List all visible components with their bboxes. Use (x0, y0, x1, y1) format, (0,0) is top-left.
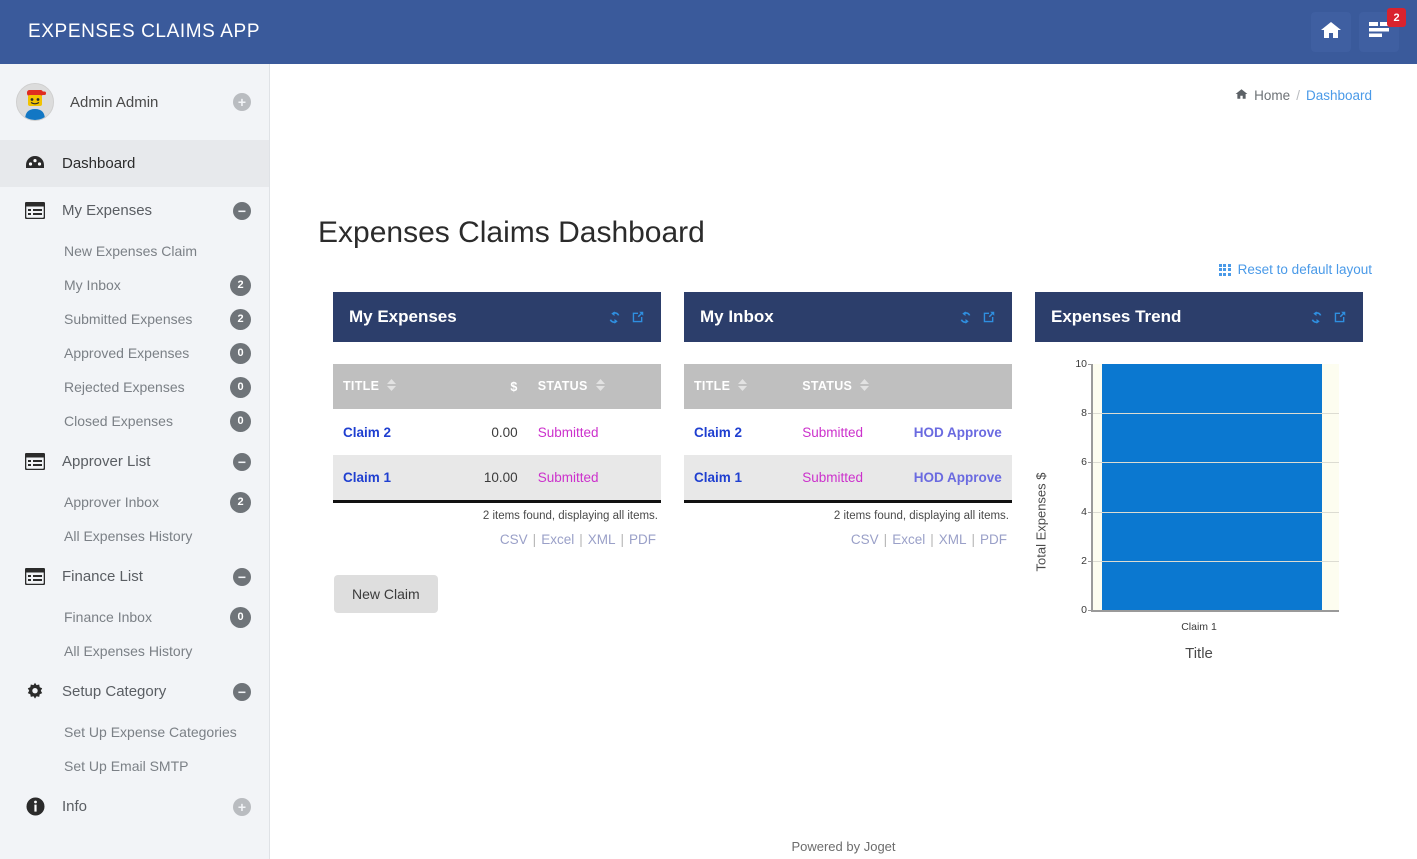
main-content: Home / Dashboard Expenses Claims Dashboa… (270, 64, 1417, 859)
portlet-expenses-trend: Expenses Trend Total Expenses $ 0246810 (1035, 292, 1363, 682)
sidebar-collapse-toggle[interactable]: + (233, 798, 251, 816)
expenses-trend-chart: Total Expenses $ 0246810 Claim 1 Title (1035, 342, 1363, 682)
sidebar-subitem-set-up-expense-categories[interactable]: Set Up Expense Categories (0, 715, 269, 749)
sidebar-item-my-expenses[interactable]: My Expenses− (0, 187, 269, 234)
portlet-row: My Expenses TITLE $ STATUS (333, 292, 1363, 682)
export-xml[interactable]: XML (939, 532, 967, 547)
sidebar-subitem-label: New Expenses Claim (64, 243, 251, 259)
sidebar-collapse-toggle[interactable]: − (233, 683, 251, 701)
sidebar-subitem-approved-expenses[interactable]: Approved Expenses0 (0, 336, 269, 370)
sidebar-item-label: Dashboard (62, 155, 251, 172)
sidebar-badge: 0 (230, 607, 251, 628)
sidebar-badge: 2 (230, 309, 251, 330)
sidebar-subitem-rejected-expenses[interactable]: Rejected Expenses0 (0, 370, 269, 404)
sidebar: Admin Admin + DashboardMy Expenses−New E… (0, 64, 270, 859)
gear-icon (24, 682, 46, 702)
refresh-icon[interactable] (958, 310, 973, 325)
portlet-body: TITLE $ STATUS Claim 2 0.00 Submitted Cl… (333, 342, 661, 547)
export-pdf[interactable]: PDF (980, 532, 1007, 547)
claim-link[interactable]: Claim 1 (694, 470, 742, 485)
info-icon (24, 797, 46, 816)
export-excel[interactable]: Excel (541, 532, 574, 547)
sidebar-subitem-label: Approved Expenses (64, 345, 230, 361)
chart-y-tick: 4 (1081, 506, 1087, 518)
sort-icon (860, 379, 869, 394)
sidebar-collapse-toggle[interactable]: − (233, 568, 251, 586)
footer-text: Powered by Joget (270, 839, 1417, 854)
sidebar-subitem-all-expenses-history[interactable]: All Expenses History (0, 634, 269, 668)
status-badge: Submitted (802, 425, 863, 440)
page-title: Expenses Claims Dashboard (318, 216, 705, 250)
claim-link[interactable]: Claim 1 (343, 470, 391, 485)
export-csv[interactable]: CSV (500, 532, 528, 547)
col-status[interactable]: STATUS (792, 364, 904, 409)
table-row[interactable]: Claim 1 10.00 Submitted (333, 455, 661, 501)
app-title: EXPENSES CLAIMS APP (28, 21, 260, 43)
reset-layout-link[interactable]: Reset to default layout (1219, 262, 1372, 277)
reset-layout-label: Reset to default layout (1238, 262, 1372, 277)
export-csv[interactable]: CSV (851, 532, 879, 547)
sidebar-item-label: Approver List (62, 453, 233, 470)
sidebar-item-label: Setup Category (62, 683, 233, 700)
portlet-header: My Expenses (333, 292, 661, 342)
external-link-icon[interactable] (631, 310, 645, 324)
chart-y-tickmark (1088, 462, 1093, 463)
sidebar-subitem-label: Set Up Expense Categories (64, 724, 251, 740)
col-title[interactable]: TITLE (684, 364, 792, 409)
action-link[interactable]: HOD Approve (914, 470, 1002, 485)
portlet-body: Total Expenses $ 0246810 Claim 1 Title (1035, 342, 1363, 682)
sidebar-subitem-label: Finance Inbox (64, 609, 230, 625)
chart-bar (1102, 364, 1322, 610)
user-profile-row[interactable]: Admin Admin + (0, 64, 269, 140)
export-links: CSV|Excel|XML|PDF (684, 522, 1012, 547)
home-icon (1320, 20, 1342, 45)
sidebar-subitem-label: Submitted Expenses (64, 311, 230, 327)
sort-icon (738, 379, 747, 394)
sort-icon (596, 379, 605, 394)
sidebar-subitem-set-up-email-smtp[interactable]: Set Up Email SMTP (0, 749, 269, 783)
my-inbox-table: TITLE STATUS Claim 2 Submitted HOD Appro… (684, 364, 1012, 503)
portlet-title: My Expenses (349, 307, 607, 327)
chart-y-tick: 0 (1081, 604, 1087, 616)
user-expand-toggle[interactable]: + (233, 93, 251, 111)
inbox-badge: 2 (1387, 8, 1406, 27)
chart-y-tick: 6 (1081, 456, 1087, 468)
breadcrumb-separator: / (1296, 88, 1300, 103)
col-status[interactable]: STATUS (528, 364, 661, 409)
portlet-my-inbox: My Inbox TITLE STATUS (684, 292, 1012, 547)
sidebar-subitem-all-expenses-history[interactable]: All Expenses History (0, 519, 269, 553)
sort-icon (387, 379, 396, 394)
export-links: CSV|Excel|XML|PDF (333, 522, 661, 547)
sidebar-collapse-toggle[interactable]: − (233, 202, 251, 220)
chart-y-tick: 2 (1081, 555, 1087, 567)
inbox-button[interactable]: 2 (1359, 12, 1399, 52)
sidebar-subitem-label: Set Up Email SMTP (64, 758, 251, 774)
portlet-actions (607, 310, 645, 325)
chart-y-tick: 10 (1075, 358, 1087, 370)
claim-amount: 0.00 (445, 409, 527, 455)
top-bar: EXPENSES CLAIMS APP 2 (0, 0, 1417, 64)
portlet-my-expenses: My Expenses TITLE $ STATUS (333, 292, 661, 547)
grid-icon (1219, 264, 1231, 276)
status-badge: Submitted (538, 425, 599, 440)
sidebar-item-approver-list[interactable]: Approver List− (0, 438, 269, 485)
user-name: Admin Admin (70, 94, 233, 111)
table-header-row: TITLE STATUS (684, 364, 1012, 409)
chart-gridline (1093, 561, 1339, 562)
sidebar-badge: 2 (230, 275, 251, 296)
table-row[interactable]: Claim 1 Submitted HOD Approve (684, 455, 1012, 501)
sidebar-item-info[interactable]: Info+ (0, 783, 269, 830)
chart-gridline (1093, 462, 1339, 463)
export-excel[interactable]: Excel (892, 532, 925, 547)
sidebar-subitem-submitted-expenses[interactable]: Submitted Expenses2 (0, 302, 269, 336)
sidebar-subitem-label: All Expenses History (64, 528, 251, 544)
chart-y-tick: 8 (1081, 407, 1087, 419)
sidebar-item-dashboard[interactable]: Dashboard (0, 140, 269, 187)
sidebar-nav: DashboardMy Expenses−New Expenses ClaimM… (0, 140, 269, 830)
list-icon (24, 453, 46, 470)
portlet-header: My Inbox (684, 292, 1012, 342)
breadcrumb: Home / Dashboard (1235, 88, 1372, 103)
chart-gridline (1093, 413, 1339, 414)
portlet-title: My Inbox (700, 307, 958, 327)
claim-amount: 10.00 (445, 455, 527, 501)
external-link-icon[interactable] (1333, 310, 1347, 324)
sidebar-badge: 2 (230, 492, 251, 513)
sidebar-collapse-toggle[interactable]: − (233, 453, 251, 471)
portlet-actions (1309, 310, 1347, 325)
chart-y-tickmark (1088, 413, 1093, 414)
portlet-body: TITLE STATUS Claim 2 Submitted HOD Appro… (684, 342, 1012, 547)
status-badge: Submitted (802, 470, 863, 485)
sidebar-item-setup-category[interactable]: Setup Category− (0, 668, 269, 715)
sidebar-subitem-new-expenses-claim[interactable]: New Expenses Claim (0, 234, 269, 268)
table-header-row: TITLE $ STATUS (333, 364, 661, 409)
sidebar-badge: 0 (230, 411, 251, 432)
breadcrumb-current[interactable]: Dashboard (1306, 88, 1372, 103)
sidebar-item-label: Finance List (62, 568, 233, 585)
sidebar-subitem-label: Rejected Expenses (64, 379, 230, 395)
avatar (16, 83, 54, 121)
sidebar-item-finance-list[interactable]: Finance List− (0, 553, 269, 600)
chart-y-tickmark (1088, 610, 1093, 611)
chart-y-tickmark (1088, 561, 1093, 562)
breadcrumb-home-icon (1235, 88, 1248, 103)
refresh-icon[interactable] (607, 310, 622, 325)
sidebar-subitem-finance-inbox[interactable]: Finance Inbox0 (0, 600, 269, 634)
table-row[interactable]: Claim 2 0.00 Submitted (333, 409, 661, 455)
items-found-note: 2 items found, displaying all items. (684, 503, 1012, 522)
sidebar-item-label: Info (62, 798, 233, 815)
home-button[interactable] (1311, 12, 1351, 52)
list-icon (24, 202, 46, 219)
export-pdf[interactable]: PDF (629, 532, 656, 547)
external-link-icon[interactable] (982, 310, 996, 324)
sidebar-subitem-label: Closed Expenses (64, 413, 230, 429)
list-icon (24, 568, 46, 585)
col-action (904, 364, 1012, 409)
sidebar-item-label: My Expenses (62, 202, 233, 219)
col-amount[interactable]: $ (445, 364, 527, 409)
claim-link[interactable]: Claim 2 (343, 425, 391, 440)
topbar-actions: 2 (1311, 12, 1399, 52)
chart-plot-area: 0246810 (1091, 364, 1339, 612)
sidebar-subitem-label: My Inbox (64, 277, 230, 293)
my-expenses-table: TITLE $ STATUS Claim 2 0.00 Submitted Cl… (333, 364, 661, 503)
claim-link[interactable]: Claim 2 (694, 425, 742, 440)
chart-y-tickmark (1088, 512, 1093, 513)
export-xml[interactable]: XML (588, 532, 616, 547)
chart-x-tick-label: Claim 1 (1035, 621, 1363, 633)
sidebar-subitem-my-inbox[interactable]: My Inbox2 (0, 268, 269, 302)
sidebar-badge: 0 (230, 377, 251, 398)
portlet-header: Expenses Trend (1035, 292, 1363, 342)
portlet-actions (958, 310, 996, 325)
refresh-icon[interactable] (1309, 310, 1324, 325)
col-title[interactable]: TITLE (333, 364, 445, 409)
sidebar-subitem-label: Approver Inbox (64, 494, 230, 510)
sidebar-subitem-label: All Expenses History (64, 643, 251, 659)
portlet-title: Expenses Trend (1051, 307, 1309, 327)
chart-gridline (1093, 512, 1339, 513)
breadcrumb-home-link[interactable]: Home (1254, 88, 1290, 103)
sidebar-subitem-closed-expenses[interactable]: Closed Expenses0 (0, 404, 269, 438)
table-row[interactable]: Claim 2 Submitted HOD Approve (684, 409, 1012, 455)
status-badge: Submitted (538, 470, 599, 485)
items-found-note: 2 items found, displaying all items. (333, 503, 661, 522)
chart-x-axis-label: Title (1035, 645, 1363, 662)
chart-y-axis-label: Total Expenses $ (1034, 472, 1049, 571)
sidebar-subitem-approver-inbox[interactable]: Approver Inbox2 (0, 485, 269, 519)
action-link[interactable]: HOD Approve (914, 425, 1002, 440)
chart-y-tickmark (1088, 364, 1093, 365)
new-claim-button[interactable]: New Claim (334, 575, 438, 613)
dashboard-icon (24, 155, 46, 172)
sidebar-badge: 0 (230, 343, 251, 364)
